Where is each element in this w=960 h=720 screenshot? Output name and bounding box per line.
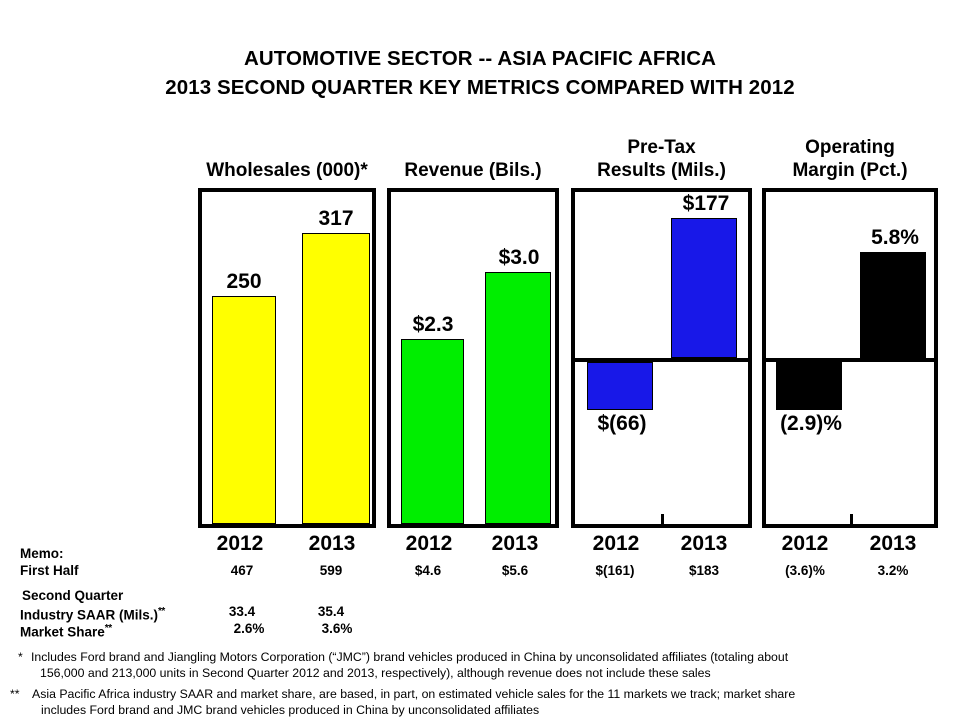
memo-first-half-margin-2012: (3.6)% [764, 563, 846, 579]
bar-label-margin-2012: (2.9)% [768, 412, 854, 436]
axis-label-pretax-2013: 2013 [663, 532, 745, 556]
chart-title-margin-line-2: Margin (Pct.) [762, 159, 938, 182]
memo-industry-saar-2012: 33.4 [205, 604, 279, 620]
memo-first-half-wholesales-2012: 467 [205, 563, 279, 579]
memo-row-label-market-share-text: Market Share [20, 625, 105, 640]
axis-label-pretax-2012: 2012 [575, 532, 657, 556]
chart-title-revenue-line-2: Revenue (Bils.) [387, 159, 559, 182]
memo-first-half-margin-2013: 3.2% [856, 563, 930, 579]
plot-area-revenue: $2.3 $3.0 [387, 188, 559, 528]
bar-label-revenue-2012: $2.3 [393, 313, 473, 337]
bar-revenue-2013[interactable] [485, 272, 551, 524]
memo-first-half-revenue-2013: $5.6 [476, 563, 554, 579]
plot-area-wholesales: 250 317 [198, 188, 376, 528]
memo-first-half-wholesales-2013: 599 [294, 563, 368, 579]
bar-label-wholesales-2012: 250 [206, 270, 282, 294]
chart-panel-operating-margin: Operating Margin (Pct.) (2.9)% 5.8% 2012… [762, 136, 938, 528]
chart-title-wholesales-line-2: Wholesales (000)* [198, 159, 376, 182]
axis-label-wholesales-2013: 2013 [294, 532, 370, 556]
memo-first-half-pretax-2012: $(161) [574, 563, 656, 579]
plot-area-operating-margin: (2.9)% 5.8% [762, 188, 938, 528]
memo-market-share-2013: 3.6% [300, 621, 374, 637]
chart-title-pretax-line-2: Results (Mils.) [571, 159, 752, 182]
bar-label-pretax-2012: $(66) [579, 412, 665, 436]
axis-label-margin-2013: 2013 [852, 532, 934, 556]
memo-row-label-second-quarter: Second Quarter [22, 588, 123, 604]
memo-industry-saar-2013: 35.4 [294, 604, 368, 620]
chart-title-pretax-line-1: Pre-Tax [571, 136, 752, 159]
axis-label-revenue-2012: 2012 [389, 532, 469, 556]
bar-margin-2012[interactable] [776, 362, 842, 410]
axis-center-tick-pretax [661, 514, 664, 524]
memo-row-label-market-share-footnote-mark: ** [105, 623, 112, 634]
bar-margin-2013[interactable] [860, 252, 926, 358]
chart-panel-revenue: Revenue (Bils.) $2.3 $3.0 2012 2013 [387, 136, 559, 528]
bar-pretax-2012[interactable] [587, 362, 653, 410]
memo-row-label-industry-saar-footnote-mark: ** [158, 606, 165, 617]
footnote-single-asterisk-line-2: 156,000 and 213,000 units in Second Quar… [18, 666, 948, 682]
memo-heading: Memo: [20, 546, 64, 562]
footnote-single-asterisk-mark: * [18, 650, 23, 666]
bar-revenue-2012[interactable] [401, 339, 464, 524]
chart-panels: Wholesales (000)* 250 317 2012 2013 Reve… [0, 0, 960, 560]
chart-panel-pretax: Pre-Tax Results (Mils.) $(66) $177 2012 … [571, 136, 752, 528]
footnote-double-asterisk: ** Asia Pacific Africa industry SAAR and… [10, 687, 950, 718]
bar-label-pretax-2013: $177 [663, 192, 749, 216]
axis-center-tick-margin [850, 514, 853, 524]
chart-title-margin-line-1: Operating [762, 136, 938, 159]
plot-area-pretax: $(66) $177 [571, 188, 752, 528]
footnote-single-asterisk: * Includes Ford brand and Jiangling Moto… [18, 650, 948, 681]
bar-pretax-2013[interactable] [671, 218, 737, 358]
footnote-double-asterisk-line-1: Asia Pacific Africa industry SAAR and ma… [10, 687, 950, 703]
bar-label-margin-2013: 5.8% [852, 226, 938, 250]
memo-first-half-pretax-2013: $183 [663, 563, 745, 579]
bar-label-wholesales-2013: 317 [298, 207, 374, 231]
footnote-double-asterisk-line-2: includes Ford brand and JMC brand vehicl… [10, 703, 950, 719]
memo-market-share-2012: 2.6% [212, 621, 286, 637]
bar-wholesales-2012[interactable] [212, 296, 276, 524]
footnote-single-asterisk-line-1: Includes Ford brand and Jiangling Motors… [18, 650, 948, 666]
footnote-double-asterisk-mark: ** [10, 687, 20, 703]
memo-row-label-market-share: Market Share** [20, 621, 112, 641]
chart-panel-wholesales: Wholesales (000)* 250 317 2012 2013 [198, 136, 376, 528]
bar-wholesales-2013[interactable] [302, 233, 370, 524]
axis-label-margin-2012: 2012 [764, 532, 846, 556]
axis-label-revenue-2013: 2013 [475, 532, 555, 556]
axis-label-wholesales-2012: 2012 [202, 532, 278, 556]
memo-row-label-first-half: First Half [20, 563, 79, 579]
memo-first-half-revenue-2012: $4.6 [389, 563, 467, 579]
bar-label-revenue-2013: $3.0 [479, 246, 559, 270]
